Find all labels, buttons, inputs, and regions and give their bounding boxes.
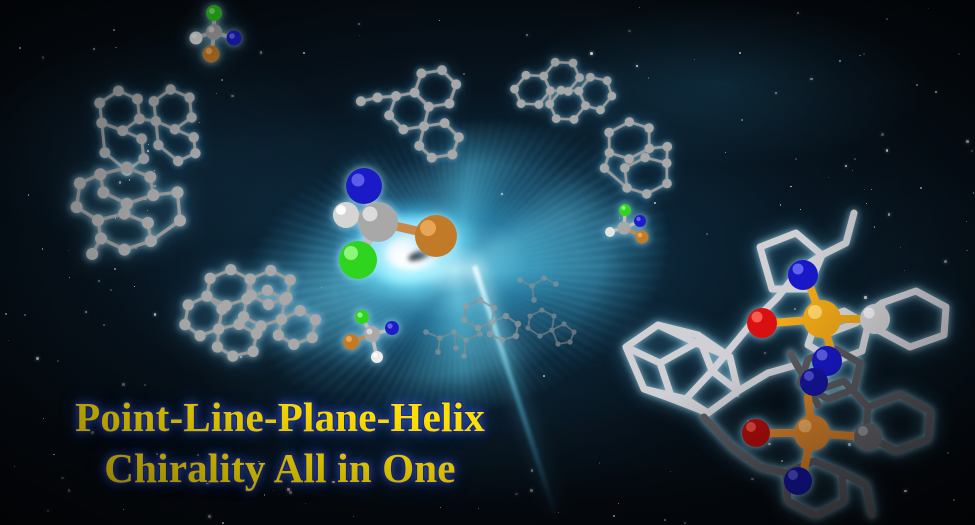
atom-nitrogen-lower-b <box>784 467 812 495</box>
atom-carbon <box>364 326 380 342</box>
molecule-binaphthyl-center <box>342 52 504 172</box>
atom-chlorine <box>355 310 369 324</box>
atom-carbon-lower-aryl <box>854 423 882 451</box>
atom-nitrogen <box>346 168 382 204</box>
molecule-chiral-center-top <box>178 2 250 62</box>
molecule-helicene-lower-left <box>168 240 357 382</box>
title-line-2: Chirality All in One <box>0 447 560 489</box>
atom-carbon-upper-aryl <box>860 304 890 334</box>
molecule-tiny-cluster-d <box>518 302 578 348</box>
atom-bromine <box>415 215 457 257</box>
molecule-tiny-cluster-c <box>420 318 496 368</box>
atom-oxygen-lower <box>742 419 770 447</box>
metal-center-lower <box>794 415 830 451</box>
atom-hydrogen <box>333 202 359 228</box>
atom-carbon <box>358 202 398 242</box>
molecule-metal-complex <box>600 185 972 525</box>
metal-center-upper <box>803 300 841 338</box>
atom-nitrogen <box>385 321 399 335</box>
atom-nitrogen <box>227 31 242 46</box>
title-line-1: Point-Line-Plane-Helix <box>0 396 560 438</box>
atom-nitrogen-upper-a <box>788 260 818 290</box>
atom-hydrogen <box>371 351 383 363</box>
atom-carbon <box>206 24 222 40</box>
cover-title: Point-Line-Plane-Helix Chirality All in … <box>0 396 560 489</box>
atom-bromine <box>203 46 220 63</box>
atom-hydrogen <box>190 32 203 45</box>
atom-oxygen-upper <box>747 308 777 338</box>
cover-artwork-canvas: Point-Line-Plane-Helix Chirality All in … <box>0 0 975 525</box>
atom-nitrogen-lower-a <box>800 368 828 396</box>
